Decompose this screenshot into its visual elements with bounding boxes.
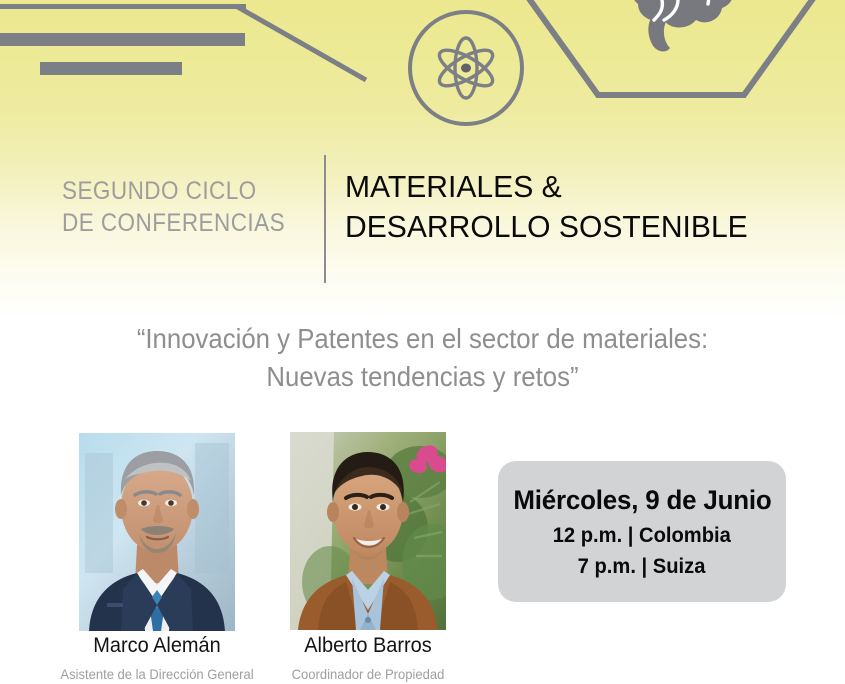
conference-topic-quote: “Innovación y Patentes en el sector de m… bbox=[34, 320, 811, 396]
event-time-suiza: 7 p.m. | Suiza bbox=[578, 555, 706, 579]
kicker-text: SEGUNDO CICLO DE CONFERENCIAS bbox=[62, 175, 292, 239]
conference-poster: SEGUNDO CICLO DE CONFERENCIAS MATERIALES… bbox=[0, 0, 845, 684]
brain-icon bbox=[612, 0, 762, 60]
event-time-colombia: 12 p.m. | Colombia bbox=[553, 524, 731, 548]
decorative-bar-small bbox=[40, 62, 182, 75]
speaker-name: Alberto Barros bbox=[254, 634, 482, 658]
event-datetime-box: Miércoles, 9 de Junio 12 p.m. | Colombia… bbox=[498, 461, 786, 602]
speaker-role: Coordinador de Propiedad bbox=[238, 665, 498, 684]
decorative-bar-medium bbox=[0, 33, 245, 46]
event-date: Miércoles, 9 de Junio bbox=[513, 485, 771, 516]
decorative-bar-thin bbox=[0, 4, 246, 9]
speaker-photo-alberto-barros bbox=[290, 432, 446, 630]
header-block: SEGUNDO CICLO DE CONFERENCIAS MATERIALES… bbox=[0, 150, 845, 290]
speaker-photo-marco-aleman bbox=[79, 433, 235, 631]
decorative-diagonal-line bbox=[236, 4, 366, 82]
speaker-name: Marco Alemán bbox=[43, 634, 271, 658]
atom-icon bbox=[432, 34, 500, 102]
header-divider bbox=[324, 155, 326, 283]
page-title: MATERIALES & DESARROLLO SOSTENIBLE bbox=[345, 167, 825, 247]
